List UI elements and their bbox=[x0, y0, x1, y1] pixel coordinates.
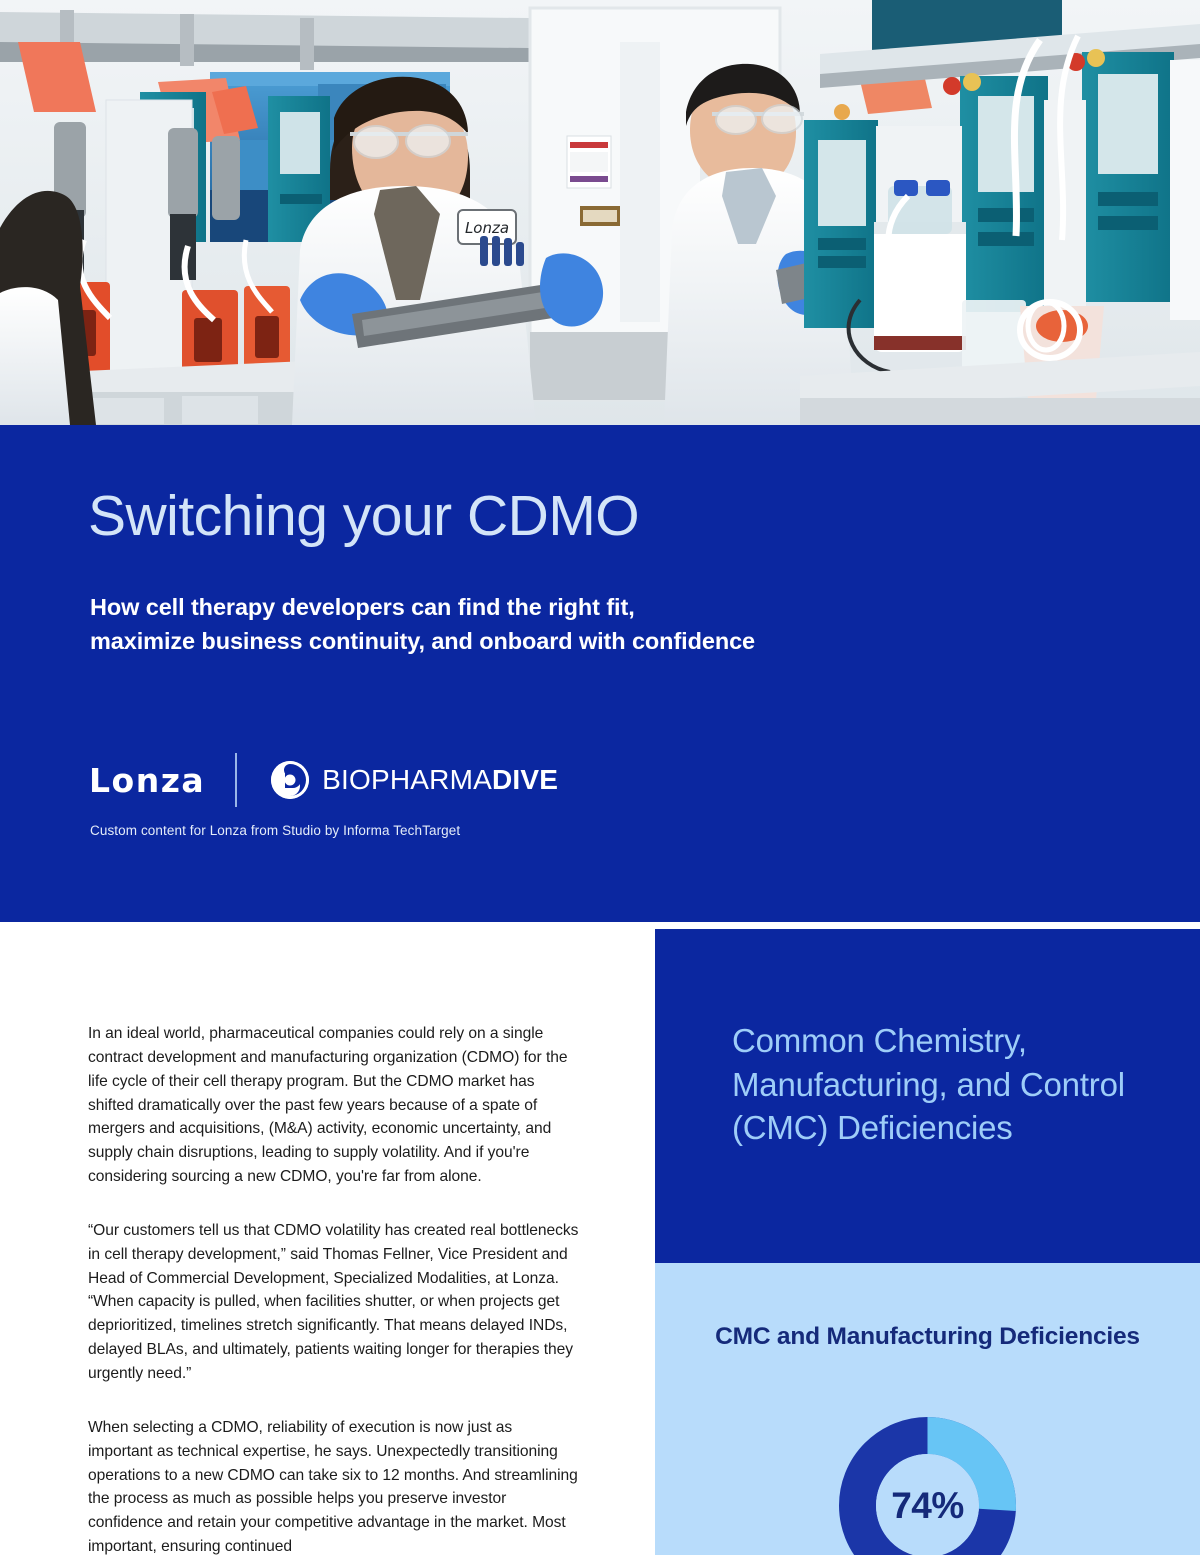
content-credit: Custom content for Lonza from Studio by … bbox=[90, 823, 460, 838]
lonza-logo: Lonza bbox=[89, 764, 205, 797]
svg-text:Lonza: Lonza bbox=[465, 219, 509, 237]
donut-chart: 74% bbox=[835, 1413, 1020, 1555]
sidebar-chart-area: CMC and Manufacturing Deficiencies 74% bbox=[655, 1263, 1200, 1555]
article-body: In an ideal world, pharmaceutical compan… bbox=[88, 1022, 580, 1555]
biopharma-dive-logo: BIOPHARMADIVE bbox=[271, 761, 558, 799]
wordmark-dive: DIVE bbox=[492, 764, 558, 795]
logo-lockup: Lonza BIOPHARMADIVE bbox=[89, 753, 558, 807]
hero-banner: Switching your CDMO How cell therapy dev… bbox=[0, 425, 1200, 922]
biopharma-dive-mark-icon bbox=[271, 761, 309, 799]
sidebar-dark-header: Common Chemistry, Manufacturing, and Con… bbox=[655, 929, 1200, 1263]
article-paragraph: When selecting a CDMO, reliability of ex… bbox=[88, 1416, 580, 1555]
hero-lab-photo: Lonza bbox=[0, 0, 1200, 425]
page-subtitle: How cell therapy developers can find the… bbox=[90, 590, 755, 658]
chart-title: CMC and Manufacturing Deficiencies bbox=[655, 1321, 1200, 1353]
sidebar-stat-panel: Common Chemistry, Manufacturing, and Con… bbox=[655, 929, 1200, 1555]
article-paragraph: In an ideal world, pharmaceutical compan… bbox=[88, 1022, 580, 1189]
page-title: Switching your CDMO bbox=[88, 487, 639, 547]
article-paragraph: “Our customers tell us that CDMO volatil… bbox=[88, 1219, 580, 1386]
subtitle-line-1: How cell therapy developers can find the… bbox=[90, 590, 755, 624]
sidebar-heading: Common Chemistry, Manufacturing, and Con… bbox=[732, 1019, 1162, 1150]
biopharma-dive-wordmark: BIOPHARMADIVE bbox=[322, 766, 558, 794]
subtitle-line-2: maximize business continuity, and onboar… bbox=[90, 624, 755, 658]
logo-divider bbox=[235, 753, 237, 807]
donut-center-value: 74% bbox=[835, 1413, 1020, 1555]
donut-chart-wrapper: 74% bbox=[655, 1413, 1200, 1555]
wordmark-biopharma: BIOPHARMA bbox=[322, 764, 492, 795]
document-page: Lonza bbox=[0, 0, 1200, 1555]
